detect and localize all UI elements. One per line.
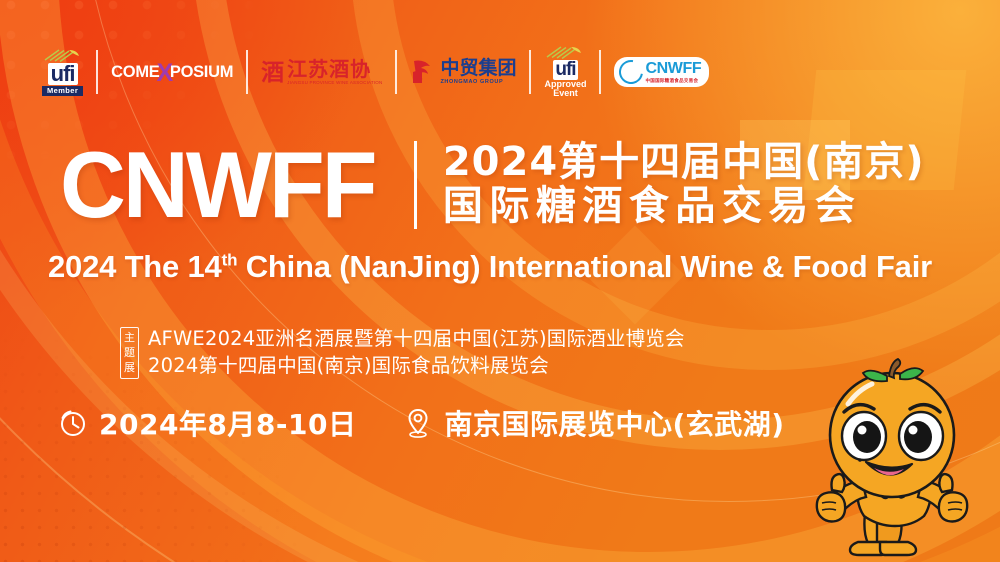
clock-icon	[58, 408, 88, 438]
comexposium-x-glyph: X	[156, 59, 172, 88]
jiangsu-en-name: JIANGSU PROVINCE WINE ASSOCIATION	[287, 81, 382, 86]
theme-line-1: AFWE2024亚洲名酒展暨第十四届中国(江苏)国际酒业博览会	[148, 327, 685, 351]
thumbs-up-left	[817, 474, 845, 521]
theme-badge-char-1: 主	[124, 331, 135, 345]
theme-badge-char-2: 题	[124, 346, 135, 360]
hero-title-block: CNWFF 2024第十四届中国(南京) 国际糖酒食品交易会	[60, 140, 925, 229]
wine-seal-icon: 酒	[261, 61, 284, 84]
logo-divider	[246, 50, 248, 94]
jiangsu-cn-name: 江苏酒协	[287, 59, 382, 79]
thumbs-up-right	[939, 474, 967, 521]
event-banner: ufi Member COME X POSIUM 酒 江苏酒协 JIANGSU …	[0, 0, 1000, 562]
ufi-member-logo[interactable]: ufi Member	[42, 44, 83, 100]
theme-exhibitions: 主 题 展 AFWE2024亚洲名酒展暨第十四届中国(江苏)国际酒业博览会 20…	[120, 327, 685, 379]
cnwff-logo-subtitle: 中国国际糖酒食品交易会	[645, 79, 701, 84]
hero-divider	[414, 141, 417, 229]
theme-exhibition-lines: AFWE2024亚洲名酒展暨第十四届中国(江苏)国际酒业博览会 2024第十四届…	[148, 327, 685, 379]
theme-line-2: 2024第十四届中国(南京)国际食品饮料展览会	[148, 354, 685, 378]
event-date-group: 2024年8月8-10日	[58, 403, 356, 443]
english-subtitle-suffix: China (NanJing) International Wine & Foo…	[237, 249, 932, 284]
event-date: 2024年8月8-10日	[99, 403, 356, 443]
comexposium-logo[interactable]: COME X POSIUM	[111, 44, 233, 100]
chinese-title-line2: 国际糖酒食品交易会	[443, 185, 925, 228]
sponsor-logo-strip: ufi Member COME X POSIUM 酒 江苏酒协 JIANGSU …	[42, 44, 709, 100]
comexposium-part2: POSIUM	[170, 63, 233, 82]
event-venue: 南京国际展览中心(玄武湖)	[444, 403, 784, 443]
cnwff-logo-wordmark: CNWFF	[645, 61, 701, 77]
zhongmao-emblem-icon	[410, 58, 436, 86]
chinese-title-line1: 2024第十四届中国(南京)	[443, 141, 925, 184]
logo-divider	[96, 50, 98, 94]
english-subtitle-ordinal: th	[222, 251, 238, 270]
ufi-wordmark: ufi	[48, 63, 78, 85]
ufi-wing-icon	[43, 48, 83, 62]
cnwff-logo[interactable]: CNWFF 中国国际糖酒食品交易会	[614, 44, 709, 100]
theme-exhibition-badge: 主 题 展	[120, 327, 139, 379]
logo-divider	[599, 50, 601, 94]
english-subtitle-prefix: 2024 The 14	[48, 249, 222, 284]
chinese-title: 2024第十四届中国(南京) 国际糖酒食品交易会	[443, 141, 925, 227]
logo-divider	[395, 50, 397, 94]
ufi-wing-icon	[545, 45, 585, 59]
zhongmao-cn-name: 中贸集团	[440, 59, 516, 78]
zhongmao-group-logo[interactable]: 中贸集团 ZHONGMAO GROUP	[410, 44, 516, 100]
english-subtitle: 2024 The 14th China (NanJing) Internatio…	[48, 249, 932, 285]
orange-mascot	[788, 356, 996, 562]
location-pin-icon	[403, 407, 433, 439]
ufi-event-label: Event	[553, 89, 578, 98]
event-acronym: CNWFF	[60, 140, 375, 229]
logo-divider	[529, 50, 531, 94]
ufi-member-label: Member	[42, 86, 83, 96]
event-meta: 2024年8月8-10日 南京国际展览中心(玄武湖)	[58, 403, 785, 443]
globe-icon	[615, 55, 648, 88]
ufi-wordmark: ufi	[553, 60, 577, 80]
theme-badge-char-3: 展	[124, 361, 135, 375]
ufi-approved-event-logo[interactable]: ufi Approved Event	[544, 44, 586, 100]
zhongmao-en-name: ZHONGMAO GROUP	[440, 80, 516, 86]
event-venue-group: 南京国际展览中心(玄武湖)	[403, 403, 784, 443]
comexposium-part1: COME	[111, 63, 159, 82]
jiangsu-wine-association-logo[interactable]: 酒 江苏酒协 JIANGSU PROVINCE WINE ASSOCIATION	[261, 44, 382, 100]
